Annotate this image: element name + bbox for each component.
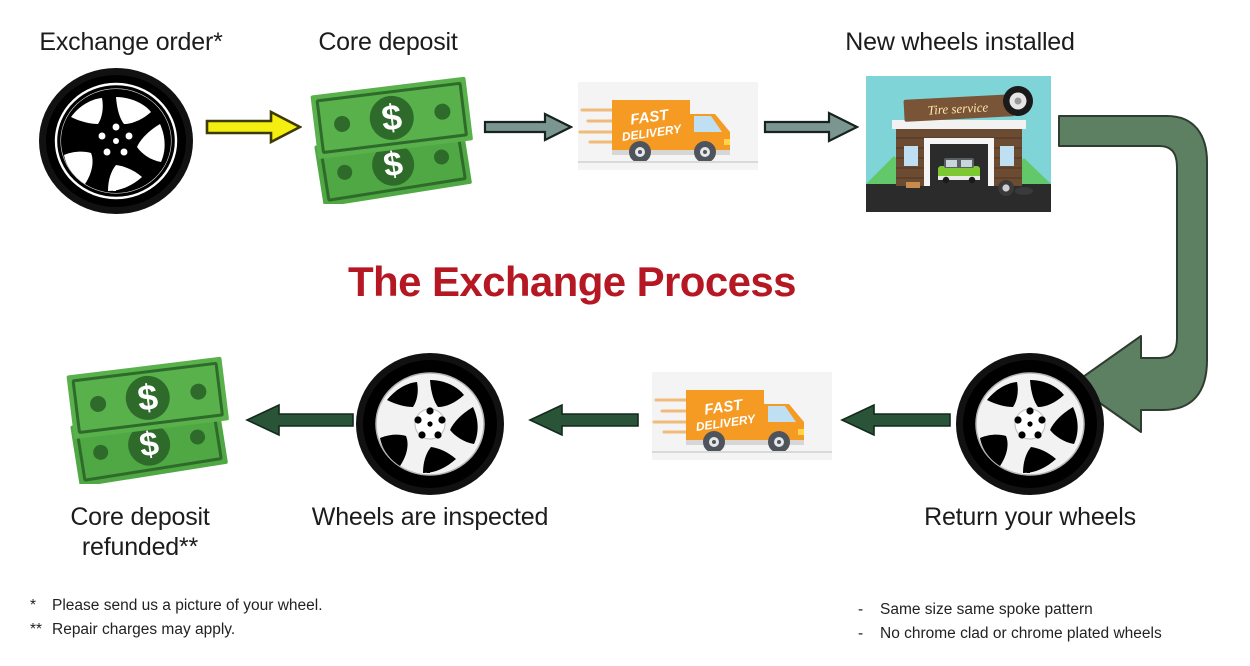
- wheel-black-icon: [38, 67, 194, 215]
- step-label-return-your-wheels: Return your wheels: [890, 503, 1170, 533]
- wheel-chrome-inspected-icon: [355, 352, 505, 497]
- arrow-order-to-deposit: [205, 110, 302, 144]
- footnote-right-1-text: Same size same spoke pattern: [880, 601, 1093, 618]
- footnote-left-1: *Please send us a picture of your wheel.: [30, 594, 323, 618]
- step-label-exchange-order: Exchange order*: [0, 28, 262, 58]
- footnote-left-1-mark: *: [30, 594, 52, 618]
- arrow-return-to-shipping: [840, 403, 952, 437]
- money-bills-icon: $ $: [302, 72, 480, 204]
- footnote-right-2-text: No chrome clad or chrome plated wheels: [880, 625, 1162, 642]
- step-label-wheels-are-inspected: Wheels are inspected: [290, 503, 570, 533]
- footnote-right-1: -Same size same spoke pattern: [858, 598, 1093, 622]
- footnote-left-1-text: Please send us a picture of your wheel.: [52, 597, 323, 614]
- footnote-left-2: **Repair charges may apply.: [30, 618, 235, 642]
- footnote-right-1-mark: -: [858, 598, 880, 622]
- footnote-right-2: -No chrome clad or chrome plated wheels: [858, 622, 1162, 646]
- arrow-shipping-to-inspection: [528, 403, 640, 437]
- wheel-chrome-return-icon: [955, 352, 1105, 497]
- arrow-deposit-to-shipping: [483, 112, 573, 142]
- page-title: The Exchange Process: [348, 258, 796, 306]
- arrow-shipping-to-shop: [763, 111, 859, 143]
- footnote-left-2-mark: **: [30, 618, 52, 642]
- step-label-core-deposit: Core deposit: [248, 28, 528, 58]
- footnote-left-2-text: Repair charges may apply.: [52, 621, 235, 638]
- money-bills-refund-icon: $ $: [58, 352, 236, 484]
- footnote-right-2-mark: -: [858, 622, 880, 646]
- delivery-truck-icon-return: FAST DELIVERY: [652, 372, 832, 460]
- step-label-core-deposit-refunded: Core deposit refunded**: [20, 503, 260, 562]
- shop-sign-text: Tire service: [927, 99, 988, 117]
- step-label-new-wheels-installed: New wheels installed: [790, 28, 1130, 58]
- exchange-process-infographic: Exchange order*: [0, 0, 1250, 666]
- delivery-truck-icon-outbound: FAST DELIVERY: [578, 82, 758, 170]
- arrow-inspection-to-refund: [245, 403, 355, 437]
- tire-service-shop-icon: Tire service: [866, 76, 1051, 212]
